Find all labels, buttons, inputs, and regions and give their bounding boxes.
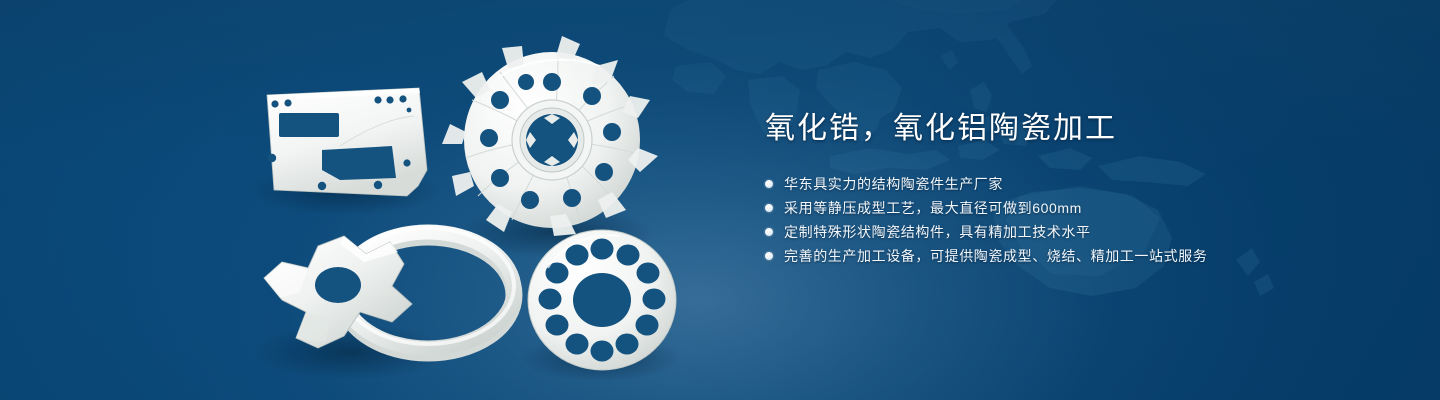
hero-banner: 氧化锆，氧化铝陶瓷加工 华东具实力的结构陶瓷件生产厂家 采用等静压成型工艺，最大… xyxy=(0,0,1440,400)
list-item: 华东具实力的结构陶瓷件生产厂家 xyxy=(765,172,1385,195)
list-item: 完善的生产加工设备，可提供陶瓷成型、烧结、精加工一站式服务 xyxy=(765,244,1385,267)
bullet-dot-icon xyxy=(765,180,773,188)
list-item: 采用等静压成型工艺，最大直径可做到600mm xyxy=(765,196,1385,219)
feature-list: 华东具实力的结构陶瓷件生产厂家 采用等静压成型工艺，最大直径可做到600mm 定… xyxy=(765,172,1385,267)
list-item-label: 完善的生产加工设备，可提供陶瓷成型、烧结、精加工一站式服务 xyxy=(784,246,1207,266)
list-item-label: 定制特殊形状陶瓷结构件，具有精加工技术水平 xyxy=(784,222,1091,242)
bullet-dot-icon xyxy=(765,204,773,212)
bullet-dot-icon xyxy=(765,228,773,236)
list-item-label: 华东具实力的结构陶瓷件生产厂家 xyxy=(784,174,1003,194)
page-title: 氧化锆，氧化铝陶瓷加工 xyxy=(765,108,1385,150)
bullet-dot-icon xyxy=(765,252,773,260)
ceramic-impeller-wheel xyxy=(442,36,658,236)
product-photo-group xyxy=(0,0,740,400)
banner-copy: 氧化锆，氧化铝陶瓷加工 华东具实力的结构陶瓷件生产厂家 采用等静压成型工艺，最大… xyxy=(765,108,1385,267)
list-item-label: 采用等静压成型工艺，最大直径可做到600mm xyxy=(784,198,1082,218)
list-item: 定制特殊形状陶瓷结构件，具有精加工技术水平 xyxy=(765,220,1385,243)
ceramic-mounting-plate xyxy=(267,88,427,196)
ceramic-perforated-disc xyxy=(528,230,676,370)
